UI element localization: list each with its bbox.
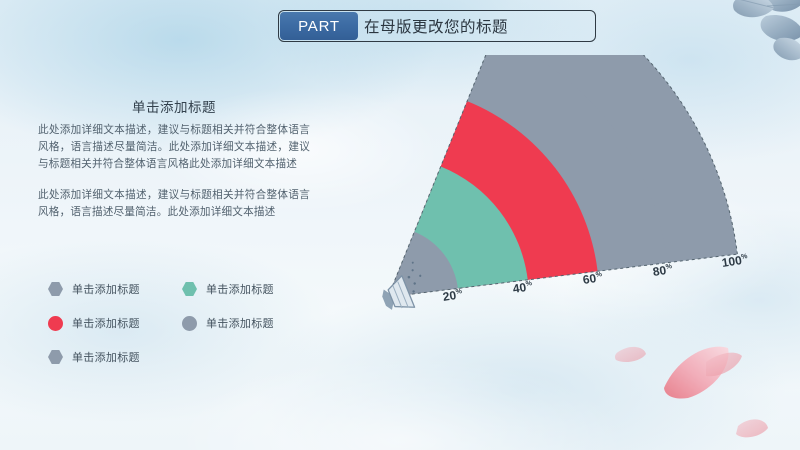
part-badge[interactable]: PART [280, 12, 358, 40]
axis-tick-label: 80% [651, 262, 673, 279]
legend-item[interactable]: 单击添加标题 [48, 340, 182, 374]
fan-chart: 20%40%60%80%100% [370, 55, 800, 325]
legend-item[interactable]: 单击添加标题 [48, 272, 182, 306]
legend-item-label: 单击添加标题 [72, 349, 140, 365]
page-title: 在母版更改您的标题 [364, 10, 508, 42]
chart-legend: 单击添加标题 单击添加标题 单击添加标题 单击添加标题 单击添加标题 [48, 272, 316, 374]
legend-item-label: 单击添加标题 [72, 315, 140, 331]
fan-wedges [388, 55, 737, 297]
legend-item-label: 单击添加标题 [72, 281, 140, 297]
legend-marker-icon [182, 316, 197, 331]
petal-decoration-icon [610, 340, 800, 450]
legend-marker-icon [48, 350, 63, 365]
legend-item-label: 单击添加标题 [206, 281, 274, 297]
legend-item[interactable]: 单击添加标题 [48, 306, 182, 340]
legend-marker-icon [182, 282, 197, 297]
header-bar: PART 在母版更改您的标题 [278, 10, 596, 42]
body-heading: 单击添加标题 [38, 96, 310, 116]
text-content-block: 单击添加标题 此处添加详细文本描述，建议与标题相关并符合整体语言风格，语言描述尽… [38, 96, 310, 235]
legend-item[interactable]: 单击添加标题 [182, 272, 316, 306]
slide-canvas: PART 在母版更改您的标题 单击添加标题 此处添加详细文本描述，建议与标题相关… [0, 0, 800, 450]
legend-item[interactable]: 单击添加标题 [182, 306, 316, 340]
body-paragraph: 此处添加详细文本描述，建议与标题相关并符合整体语言风格，语言描述尽量简洁。此处添… [38, 187, 310, 221]
legend-marker-icon [48, 316, 63, 331]
body-paragraph: 此处添加详细文本描述，建议与标题相关并符合整体语言风格，语言描述尽量简洁。此处添… [38, 122, 310, 173]
axis-tick-label: 40% [512, 279, 534, 296]
legend-marker-icon [48, 282, 63, 297]
legend-item-label: 单击添加标题 [206, 315, 274, 331]
